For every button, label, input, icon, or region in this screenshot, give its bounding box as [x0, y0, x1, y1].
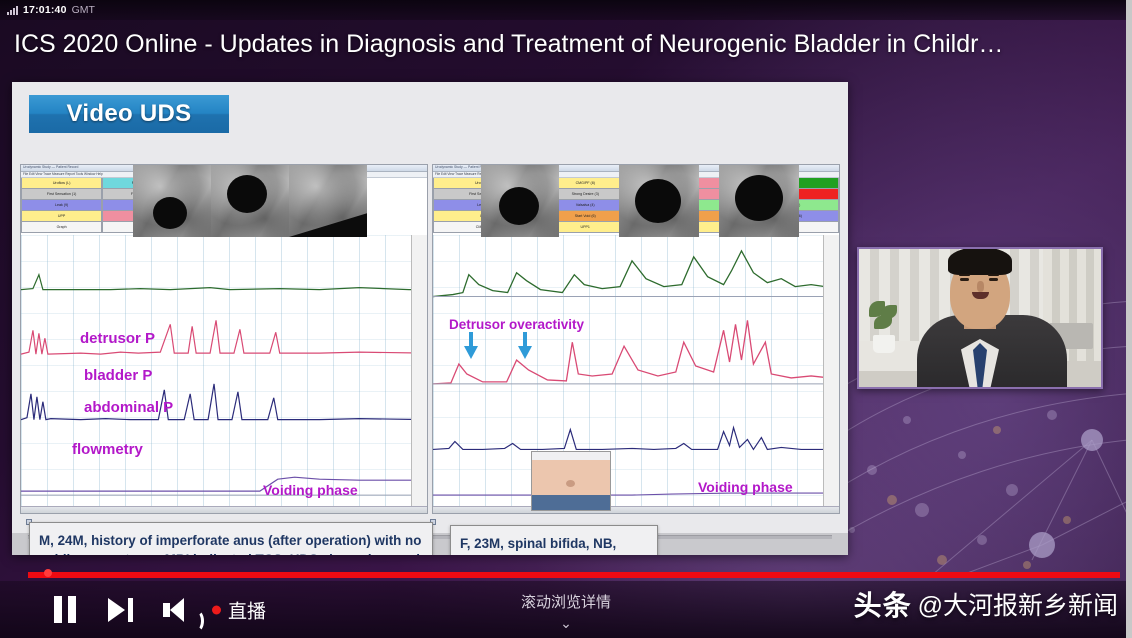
page-title: ICS 2020 Online - Updates in Diagnosis a… [14, 22, 1114, 66]
live-label: 直播 [228, 596, 266, 623]
fluoroscopy-image [289, 165, 367, 237]
watermark-handle: @大河报新乡新闻 [918, 586, 1118, 622]
uds-status-strip-left [21, 506, 427, 513]
volume-icon[interactable] [164, 595, 198, 625]
video-player[interactable]: 17:01:40 GMT ICS 2020 Online - Updates i… [0, 0, 1132, 638]
annotation-voiding-phase-right: Voiding phase [698, 479, 793, 495]
fluoroscopy-image [481, 165, 559, 237]
watermark: 头条 @大河报新乡新闻 [854, 584, 1118, 624]
uds-button[interactable]: Leak (9) [21, 200, 102, 211]
right-edge-strip [1126, 0, 1132, 638]
patient-photo-inset [531, 451, 611, 511]
uds-trace-plot-left [21, 235, 427, 506]
fluoroscopy-image [619, 165, 699, 237]
trace-label-bladder: bladder P [84, 367, 152, 384]
fluoroscopy-image [719, 165, 799, 237]
uds-scale-strip-right [823, 235, 839, 506]
live-badge[interactable]: 直播 [212, 596, 266, 623]
presenter-video[interactable] [857, 247, 1103, 389]
slide-canvas[interactable]: Video UDS Urodynamic Study — Patient Rec… [12, 82, 848, 555]
slide-banner: Video UDS [29, 95, 229, 133]
trace-label-flowmetry: flowmetry [72, 441, 143, 458]
uds-scale-strip-left [411, 235, 427, 506]
uds-button[interactable]: Graph [21, 222, 102, 233]
uds-button[interactable]: First Sensation (1) [21, 189, 102, 200]
pause-icon[interactable] [50, 595, 80, 625]
progress-fill [28, 572, 1120, 578]
uds-trace-svg-right [433, 235, 839, 506]
annotation-voiding-phase-left: Voiding phase [263, 482, 358, 498]
status-time: 17:01:40 [23, 4, 67, 16]
status-bar: 17:01:40 GMT [0, 0, 1132, 20]
signal-bars-icon [7, 6, 18, 15]
uds-trace-svg-left [21, 235, 427, 506]
detrusor-overactivity-arrows [462, 332, 542, 362]
trace-label-abdominal: abdominal P [84, 399, 173, 416]
progress-knob[interactable] [44, 569, 52, 577]
next-track-icon[interactable] [108, 595, 142, 625]
fluoroscopy-image [133, 165, 211, 237]
case-description-left: M, 24M, history of imperforate anus (aft… [29, 522, 433, 555]
uds-button[interactable]: UPP [21, 211, 102, 222]
live-dot-icon [212, 605, 221, 614]
trace-label-detrusor: detrusor P [80, 330, 155, 347]
uds-button[interactable]: Uroflow (L) [21, 178, 102, 189]
uds-status-strip-right [433, 506, 839, 513]
case-description-right: F, 23M, spinal bifida, NB, incontinence,… [450, 525, 658, 555]
uds-trace-plot-right [433, 235, 839, 506]
fluoroscopy-image [211, 165, 289, 237]
status-timezone: GMT [72, 4, 95, 16]
watermark-logo: 头条 [854, 584, 912, 624]
annotation-detrusor-overactivity: Detrusor overactivity [449, 317, 584, 332]
progress-bar[interactable] [0, 568, 1132, 581]
